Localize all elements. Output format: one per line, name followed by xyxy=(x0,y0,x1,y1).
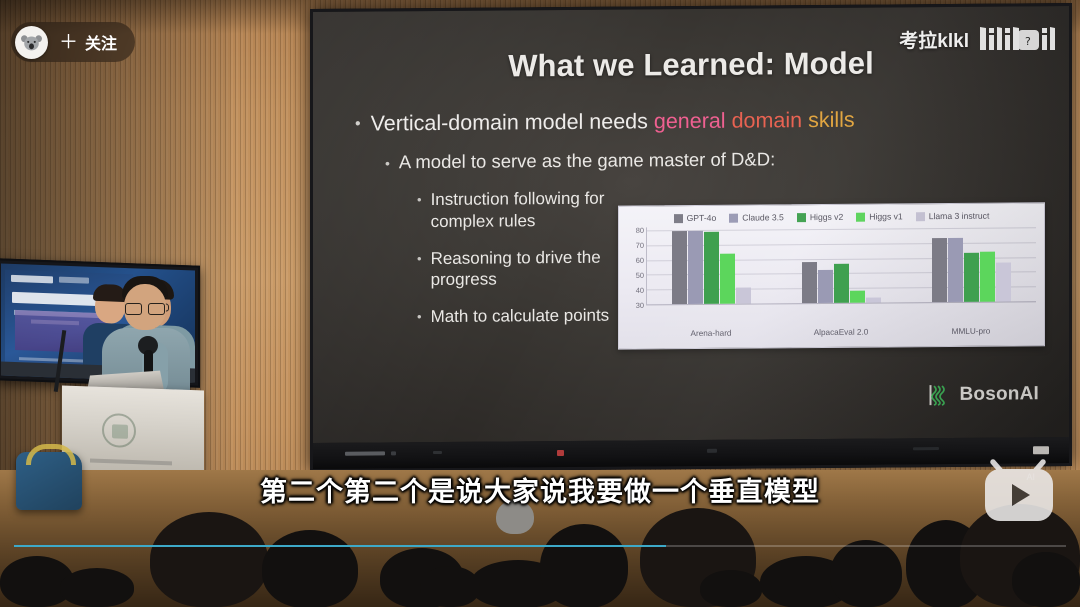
accent-word-skills: skills xyxy=(808,108,855,132)
chart-y-axis: 807060504030 xyxy=(627,227,646,305)
bullet-marker: • xyxy=(355,112,361,138)
chart-legend-item: Claude 3.5 xyxy=(729,212,784,222)
follow-label: ＋ 关注 xyxy=(59,30,117,54)
bilibili-tv-play-icon[interactable] xyxy=(980,459,1058,525)
bar-group xyxy=(802,226,881,304)
audience-head xyxy=(1012,552,1080,607)
chart-bar xyxy=(736,287,751,303)
uploader-name: 考拉klkl xyxy=(899,26,969,53)
slide-surface: What we Learned: Model • Vertical-domain… xyxy=(313,6,1069,443)
chart-bar xyxy=(802,262,817,303)
audience-head xyxy=(830,540,902,607)
legend-swatch xyxy=(674,214,683,223)
y-axis-tick: 70 xyxy=(636,241,644,250)
chart-plot-area xyxy=(646,224,1036,305)
audience-head xyxy=(420,566,480,607)
bezel-power-led xyxy=(557,450,564,456)
chart-bar xyxy=(672,231,687,304)
bosonai-logo: BosonAI xyxy=(929,383,1039,406)
video-progress-bar[interactable] xyxy=(14,545,1066,547)
bullet-level1: • Vertical-domain model needs general do… xyxy=(355,106,1045,137)
bullet-marker: • xyxy=(417,306,422,328)
chart-legend-item: GPT-4o xyxy=(674,213,717,223)
bullet-marker: • xyxy=(385,151,390,175)
bezel-indicator xyxy=(433,451,442,454)
koala-avatar-icon[interactable] xyxy=(15,26,48,59)
chart-bar xyxy=(948,237,963,302)
bezel-indicator xyxy=(707,449,717,453)
video-progress-fill xyxy=(14,545,666,547)
benchmark-bar-chart: GPT-4oClaude 3.5Higgs v2Higgs v1Llama 3 … xyxy=(618,202,1045,349)
screen-bezel xyxy=(313,437,1069,469)
legend-label: Claude 3.5 xyxy=(742,212,784,222)
bullet-level3-text: Math to calculate points xyxy=(431,305,610,328)
legend-label: GPT-4o xyxy=(687,213,717,223)
bullet-level1-plain: Vertical-domain model needs xyxy=(371,109,654,135)
svg-text:?: ? xyxy=(1025,35,1031,48)
y-axis-tick: 50 xyxy=(636,271,644,280)
audience-head xyxy=(262,530,358,607)
bilibili-watermark: 考拉klkl ? xyxy=(899,24,1060,54)
audience-head xyxy=(150,512,268,607)
x-axis-label: Arena-hard xyxy=(646,328,776,338)
audience-head xyxy=(700,570,762,607)
chart-bar xyxy=(850,291,865,303)
chart-bar xyxy=(704,232,719,304)
audience-head xyxy=(60,568,134,607)
chart-bar xyxy=(964,253,979,302)
follow-text: 关注 xyxy=(85,30,117,54)
accent-word-domain: domain xyxy=(732,108,803,133)
bosonai-logo-text: BosonAI xyxy=(959,383,1039,406)
chart-bar xyxy=(834,264,849,303)
lectern-nameplate xyxy=(90,458,172,465)
bullet-level1-text: Vertical-domain model needs general doma… xyxy=(371,108,855,137)
x-axis-label: AlpacaEval 2.0 xyxy=(776,327,906,337)
chart-legend-item: Llama 3 instruct xyxy=(916,211,990,222)
lectern xyxy=(62,386,204,475)
bullet-level2-text: A model to serve as the game master of D… xyxy=(399,148,775,175)
chart-bar xyxy=(818,270,833,303)
poster-university-logo xyxy=(11,275,53,284)
chart-bar xyxy=(996,262,1011,301)
chart-legend-item: Higgs v1 xyxy=(856,211,902,221)
bullet-marker: • xyxy=(417,189,422,233)
chart-bar xyxy=(688,231,703,304)
legend-label: Llama 3 instruct xyxy=(929,211,990,221)
chart-bar xyxy=(980,251,995,301)
koala-glyph-icon xyxy=(20,31,43,54)
y-axis-tick: 80 xyxy=(636,226,644,235)
bullet-level2: • A model to serve as the game master of… xyxy=(385,146,1045,175)
legend-label: Higgs v2 xyxy=(810,212,843,222)
video-frame: What we Learned: Model • Vertical-domain… xyxy=(0,0,1080,607)
y-axis-tick: 30 xyxy=(636,301,644,310)
subtitle-caption: 第二个第二个是说大家说我要做一个垂直模型 xyxy=(0,470,1080,509)
bezel-indicator xyxy=(913,447,939,450)
chart-bar xyxy=(720,254,735,304)
bar-group xyxy=(672,227,751,305)
follow-button[interactable]: ＋ 关注 xyxy=(11,22,135,62)
y-axis-tick: 40 xyxy=(636,286,644,295)
y-axis-tick: 60 xyxy=(636,256,644,265)
slide-content: What we Learned: Model • Vertical-domain… xyxy=(313,6,1069,443)
chart-legend-item: Higgs v2 xyxy=(797,212,843,222)
chart-bar xyxy=(932,238,947,302)
presenter-glasses-icon xyxy=(125,303,165,313)
legend-swatch xyxy=(916,212,925,221)
x-axis-label: MMLU-pro xyxy=(906,326,1036,336)
legend-swatch xyxy=(797,213,806,222)
audience-head xyxy=(540,524,628,607)
presentation-screen: What we Learned: Model • Vertical-domain… xyxy=(310,3,1072,472)
boson-wave-icon xyxy=(929,384,951,406)
bezel-indicator xyxy=(391,451,396,455)
bar-group xyxy=(932,224,1011,302)
lectern-emblem xyxy=(102,413,136,448)
chart-legend: GPT-4oClaude 3.5Higgs v2Higgs v1Llama 3 … xyxy=(627,210,1036,223)
chart-plot: 807060504030 xyxy=(627,224,1036,325)
legend-swatch xyxy=(856,212,865,221)
bezel-sensor xyxy=(1033,446,1049,454)
bullet-marker: • xyxy=(417,248,422,292)
plus-icon: ＋ xyxy=(59,33,78,52)
bezel-indicator xyxy=(345,451,385,455)
legend-swatch xyxy=(729,213,738,222)
accent-word-general: general xyxy=(654,109,726,134)
legend-label: Higgs v1 xyxy=(869,211,902,221)
bilibili-logo-icon: ? xyxy=(978,24,1060,54)
chart-bar xyxy=(866,297,881,302)
